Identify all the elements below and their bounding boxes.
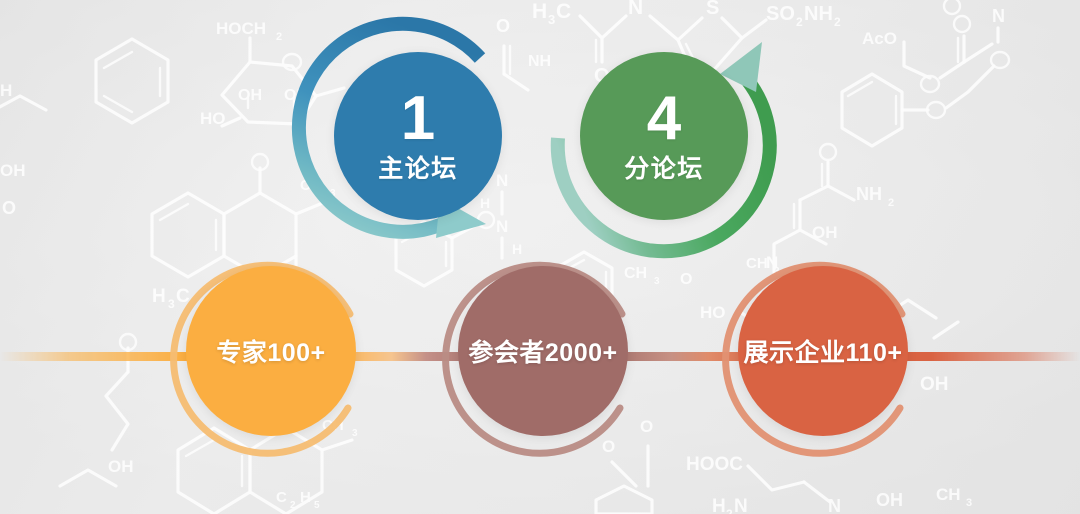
svg-text:H: H: [0, 81, 12, 100]
svg-text:H: H: [300, 489, 311, 506]
svg-text:HO: HO: [700, 303, 726, 322]
svg-text:OH: OH: [108, 457, 134, 476]
svg-text:2: 2: [276, 31, 282, 43]
companies-disc[interactable]: 展示企业110+: [738, 266, 908, 436]
svg-text:2: 2: [290, 500, 296, 511]
node-experts[interactable]: 专家100+: [172, 258, 372, 458]
svg-text:C: C: [276, 489, 287, 506]
svg-text:N: N: [734, 496, 748, 514]
experts-label: 专家100+: [216, 333, 325, 369]
sub-forum-disc[interactable]: 4 分论坛: [580, 52, 748, 220]
svg-text:O: O: [2, 198, 16, 218]
infographic-canvas: HOCH 2 HO OH OH CH 3: [0, 0, 1080, 514]
svg-text:OH: OH: [920, 374, 949, 395]
svg-text:H: H: [152, 286, 166, 307]
svg-text:2: 2: [888, 197, 894, 209]
sub-forum-caption: 分论坛: [624, 156, 704, 184]
svg-text:NH: NH: [804, 3, 833, 25]
node-attendees[interactable]: 参会者2000+: [444, 258, 644, 458]
main-forum-disc[interactable]: 1 主论坛: [334, 52, 502, 220]
svg-text:N: N: [992, 6, 1005, 26]
svg-text:H: H: [712, 496, 726, 514]
svg-text:HOCH: HOCH: [216, 19, 266, 38]
svg-text:N: N: [828, 496, 841, 514]
svg-text:NH: NH: [856, 184, 882, 204]
svg-text:OH: OH: [0, 161, 26, 180]
experts-disc[interactable]: 专家100+: [186, 266, 356, 436]
svg-text:OH: OH: [812, 223, 838, 242]
svg-text:2: 2: [834, 15, 841, 29]
svg-text:5: 5: [314, 500, 320, 511]
sub-forum-number: 4: [647, 88, 681, 150]
main-forum-caption: 主论坛: [378, 156, 458, 184]
svg-text:2: 2: [726, 507, 733, 514]
node-sub-forum[interactable]: 4 分论坛: [548, 18, 788, 258]
svg-text:AcO: AcO: [862, 29, 897, 48]
attendees-label: 参会者2000+: [468, 333, 617, 369]
svg-text:CH: CH: [936, 485, 961, 504]
svg-text:2: 2: [796, 15, 803, 29]
svg-text:N: N: [628, 0, 643, 19]
svg-text:OH: OH: [238, 87, 262, 104]
svg-text:S: S: [706, 0, 719, 19]
svg-text:OH: OH: [876, 490, 903, 510]
svg-text:3: 3: [966, 497, 972, 509]
companies-label: 展示企业110+: [744, 333, 903, 369]
node-main-forum[interactable]: 1 主论坛: [290, 18, 530, 258]
svg-text:3: 3: [654, 276, 660, 287]
svg-text:O: O: [680, 271, 692, 288]
main-forum-number: 1: [401, 88, 435, 150]
node-companies[interactable]: 展示企业110+: [724, 258, 924, 458]
svg-text:H: H: [532, 0, 547, 23]
attendees-disc[interactable]: 参会者2000+: [458, 266, 628, 436]
